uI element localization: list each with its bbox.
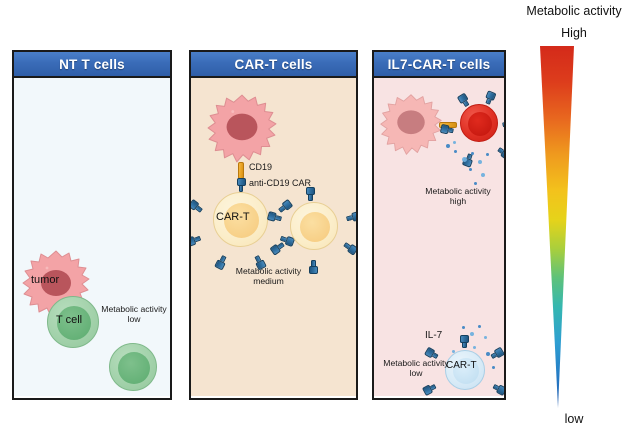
- panel-nt-t-cells: NT T cells tumor T cell: [12, 50, 172, 400]
- cytokine-dot: [486, 153, 489, 156]
- cytokine-dot: [478, 160, 482, 164]
- legend-low-label: low: [508, 412, 640, 426]
- panel-car-title: CAR-T cells: [235, 57, 313, 72]
- il7-hot-receptor-d: [502, 118, 506, 130]
- panel-nt-body: tumor T cell Metabolic activity low: [14, 78, 170, 396]
- anti-cd19-car-tag: anti-CD19 CAR: [249, 178, 311, 188]
- car-t-cell-2-nucleus: [300, 212, 330, 242]
- il7-dot: [470, 332, 474, 336]
- il7-note-low-line2: low: [376, 368, 456, 378]
- cytokine-dot: [471, 152, 474, 155]
- metabolic-activity-legend: Metabolic activity High: [508, 0, 640, 436]
- il7-hot-receptor-c: [483, 90, 496, 105]
- il7-note-low-line1: Metabolic activity: [376, 358, 456, 368]
- figure-canvas: NT T cells tumor T cell: [0, 0, 640, 436]
- nt-metabolic-note: Metabolic activity low: [96, 304, 172, 325]
- il7-activated-car-t-nucleus: [468, 112, 492, 136]
- legend-title: Metabolic activity: [508, 4, 640, 18]
- panel-nt-header: NT T cells: [14, 52, 170, 78]
- car-receptor-head: [237, 178, 246, 186]
- il7-cold-receptor-a: [460, 335, 469, 348]
- cd19-ligand: [238, 162, 244, 179]
- panel-car-header: CAR-T cells: [191, 52, 356, 78]
- legend-high-label: High: [508, 26, 640, 40]
- il7-dot: [492, 366, 495, 369]
- nt-metabolic-note-line1: Metabolic activity: [96, 304, 172, 314]
- car-receptor-1c: [189, 234, 202, 247]
- panel-il7-header: IL7-CAR-T cells: [374, 52, 504, 78]
- car-metabolic-note-line2: medium: [216, 276, 321, 286]
- il7-tumor-cell: [378, 92, 444, 158]
- nt-tumor-label: tumor: [31, 274, 59, 286]
- nt-t-cell-2-nucleus: [118, 352, 150, 384]
- panel-il7-car-t-cells: IL7-CAR-T cells: [372, 50, 506, 400]
- panel-il7-body: Metabolic activity high IL-7: [374, 78, 504, 396]
- il7-metabolic-note-high: Metabolic activity high: [412, 186, 504, 207]
- il7-dot: [462, 326, 465, 329]
- car-t-cell-1-label: CAR-T: [216, 211, 250, 223]
- cytokine-dot: [454, 150, 457, 153]
- panel-car-body: CD19 anti-CD19 CAR CAR-T: [191, 78, 356, 396]
- car-receptor-2e: [342, 240, 358, 255]
- car-t-cell-2: [290, 202, 338, 250]
- car-metabolic-note-line1: Metabolic activity: [216, 266, 321, 276]
- il7-cold-receptor-c: [489, 347, 505, 361]
- car-tumor-cell: [205, 92, 279, 166]
- car-receptor-engaged: [237, 178, 246, 192]
- il7-dot: [484, 336, 487, 339]
- il7-activated-car-t-cell: [460, 104, 498, 142]
- legend-gradient-triangle: [534, 46, 614, 408]
- car-receptor-1b: [277, 199, 294, 215]
- panel-car-t-cells: CAR-T cells CD19 anti-CD19 CAR: [189, 50, 358, 400]
- nt-t-cell-label: T cell: [56, 314, 82, 326]
- il7-note-high-line1: Metabolic activity: [412, 186, 504, 196]
- car-receptor-2a: [306, 187, 315, 201]
- il7-cold-receptor-e: [491, 382, 506, 396]
- cd19-tag: CD19: [249, 162, 272, 172]
- cytokine-dot: [474, 182, 477, 185]
- panel-il7-title: IL7-CAR-T cells: [388, 57, 491, 72]
- cytokine-dot: [453, 141, 456, 144]
- cytokine-dot: [462, 157, 467, 162]
- il7-dot: [473, 346, 476, 349]
- il7-hot-receptor-e: [496, 145, 506, 160]
- cytokine-dot: [469, 168, 472, 171]
- nt-metabolic-note-line2: low: [96, 314, 172, 324]
- il7-cold-receptor-d: [422, 382, 438, 396]
- il7-tag: IL-7: [425, 330, 442, 341]
- il7-metabolic-note-low: Metabolic activity low: [376, 358, 456, 379]
- il7-dot: [478, 325, 481, 328]
- car-metabolic-note: Metabolic activity medium: [216, 266, 321, 287]
- car-receptor-1a: [189, 199, 204, 215]
- cytokine-dot: [446, 144, 450, 148]
- car-receptor-2c: [345, 211, 358, 223]
- cytokine-dot: [481, 173, 485, 177]
- panel-nt-title: NT T cells: [59, 57, 125, 72]
- nt-t-cell-2: [109, 343, 157, 391]
- il7-note-high-line2: high: [412, 196, 504, 206]
